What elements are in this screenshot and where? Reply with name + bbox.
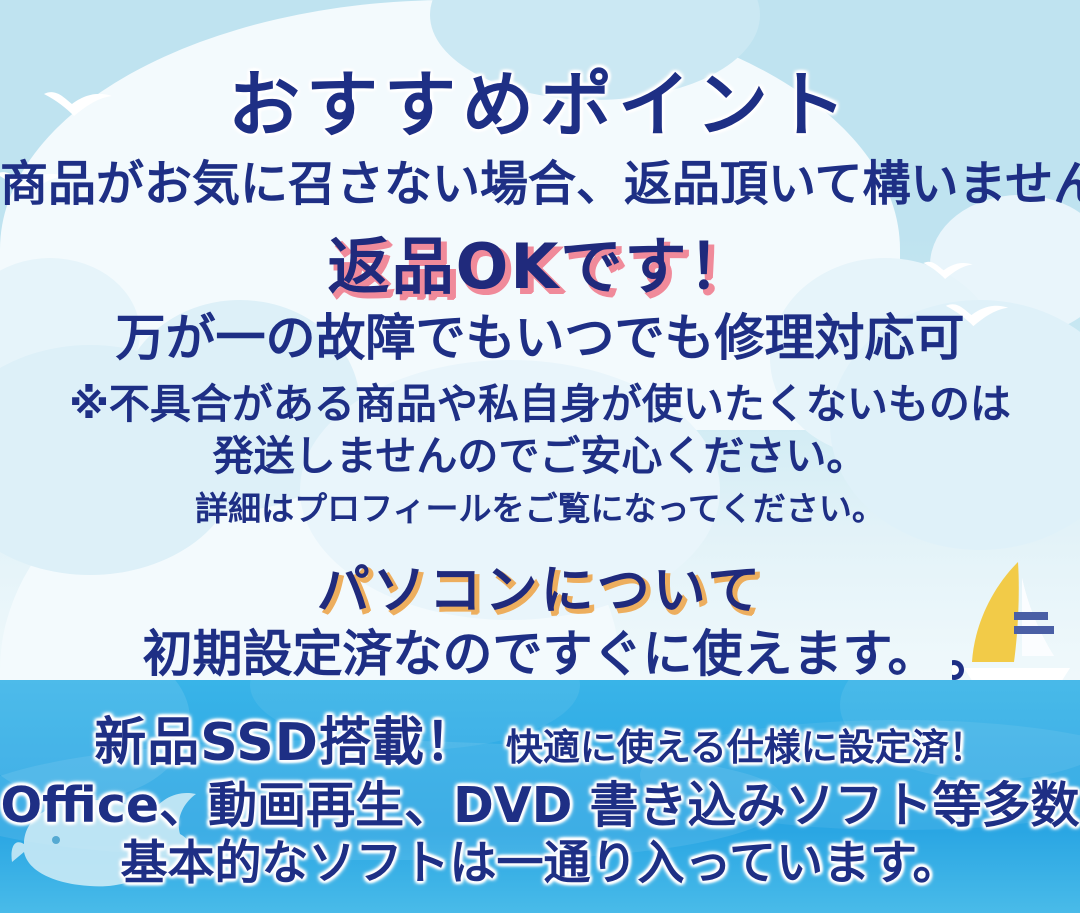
return-note-text: 商品がお気に召さない場合、返品頂いて構いません。 bbox=[0, 144, 1080, 214]
comfort-setting-label: 快適に使える仕様に設定済！ bbox=[506, 717, 986, 771]
profile-note-text: 詳細はプロフィールをご覧になってください。 bbox=[0, 482, 1080, 530]
return-ok-headline: 返品OKです！ bbox=[0, 216, 1080, 306]
quality-note-line-1: ※不具合がある商品や私自身が使いたくないものは bbox=[0, 370, 1080, 430]
basic-software-text: 基本的なソフトは一通り入っています。 bbox=[0, 824, 1080, 893]
ssd-feature-label: 新品SSD搭載！ bbox=[94, 700, 478, 775]
pc-section-heading: パソコンについて bbox=[0, 548, 1080, 624]
promo-banner: おすすめポイント 商品がお気に召さない場合、返品頂いて構いません。 返品OKです… bbox=[0, 0, 1080, 913]
pc-ready-text: 初期設定済なのですぐに使えます。 bbox=[0, 614, 1080, 686]
ssd-feature-row: 新品SSD搭載！ 快適に使える仕様に設定済！ bbox=[0, 700, 1080, 775]
quality-note-line-2: 発送しませんのでご安心ください。 bbox=[0, 422, 1080, 482]
banner-content: おすすめポイント 商品がお気に召さない場合、返品頂いて構いません。 返品OKです… bbox=[0, 0, 1080, 913]
repair-support-text: 万が一の故障でもいつでも修理対応可 bbox=[0, 298, 1080, 370]
page-title: おすすめポイント bbox=[0, 46, 1080, 151]
